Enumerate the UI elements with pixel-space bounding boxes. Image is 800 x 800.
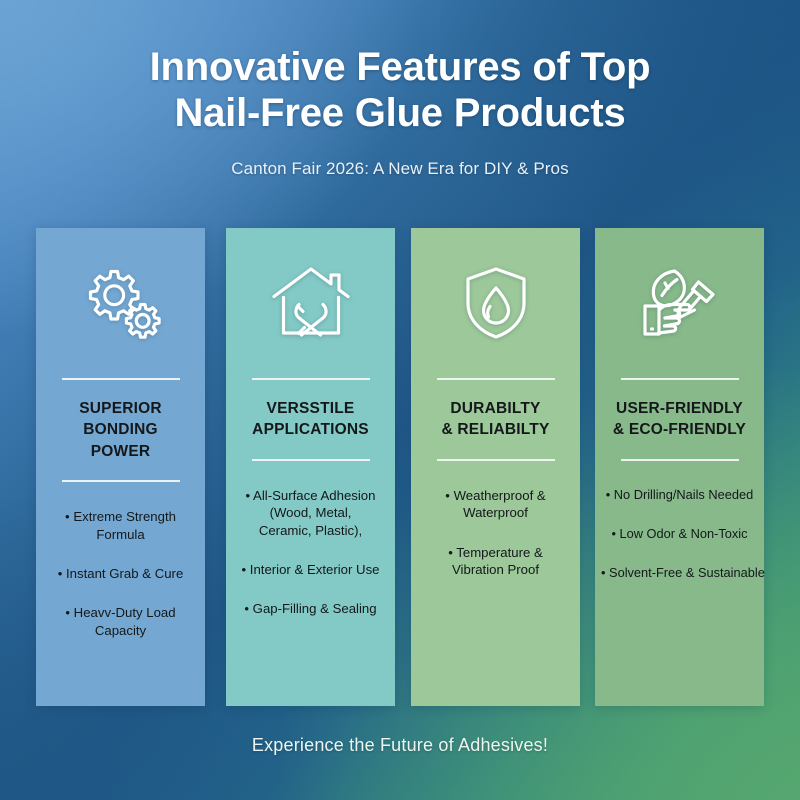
list-item: • Low Odor & Non-Toxic <box>601 526 758 543</box>
list-item: • Extreme Strength Formula <box>42 508 199 543</box>
bullet-text-wrap: Waterproof <box>417 504 574 521</box>
card-title-line-1: USER-FRIENDLY <box>603 398 756 419</box>
card-divider-top <box>437 378 555 380</box>
card-bullet-list: • All-Surface Adhesion (Wood, Metal, Cer… <box>226 461 395 618</box>
bullet-text: • No Drilling/Nails Needed <box>606 487 753 502</box>
feature-card-superior-bonding-power[interactable]: SUPERIOR BONDING POWER • Extreme Strengt… <box>36 228 205 706</box>
gears-icon <box>36 228 205 378</box>
bullet-text: • All-Surface Adhesion <box>246 488 376 503</box>
bullet-text: • Weatherproof & <box>445 488 545 503</box>
bullet-text: • Gap-Filling & Sealing <box>244 601 376 616</box>
bullet-text: • Low Odor & Non-Toxic <box>611 526 747 541</box>
feature-card-user-friendly-eco-friendly[interactable]: USER-FRIENDLY & ECO-FRIENDLY • No Drilli… <box>595 228 764 706</box>
bullet-text: • Heavv-Duty Load <box>65 605 175 620</box>
card-divider-bottom <box>437 459 555 461</box>
list-item: • All-Surface Adhesion (Wood, Metal, Cer… <box>232 487 389 539</box>
bullet-text-wrap: Capacity <box>42 622 199 639</box>
card-title-line-2: APPLICATIONS <box>234 419 387 440</box>
house-tools-icon <box>226 228 395 378</box>
footer-tagline: Experience the Future of Adhesives! <box>0 735 800 756</box>
list-item: • Gap-Filling & Sealing <box>232 600 389 617</box>
feature-card-list: SUPERIOR BONDING POWER • Extreme Strengt… <box>36 228 778 706</box>
bullet-text: • Solvent-Free & Sustainable <box>601 565 765 580</box>
list-item: • Instant Grab & Cure <box>42 565 199 582</box>
list-item: • Weatherproof & Waterproof <box>417 487 574 522</box>
bullet-text-wrap: Vibration Proof <box>417 561 574 578</box>
card-bullet-list: • Weatherproof & Waterproof • Temperatur… <box>411 461 580 579</box>
page-title-line-1: Innovative Features of Top <box>0 44 800 90</box>
card-bullet-list: • No Drilling/Nails Needed • Low Odor & … <box>595 461 764 582</box>
page-title-line-2: Nail-Free Glue Products <box>0 90 800 136</box>
feature-card-durability-reliability[interactable]: DURABILTY & RELIABILTY • Weatherproof & … <box>411 228 580 706</box>
card-title-line-1: DURABILTY <box>419 398 572 419</box>
card-title-line-3: POWER <box>44 441 197 462</box>
card-title-line-2: & ECO-FRIENDLY <box>603 419 756 440</box>
card-divider-top <box>252 378 370 380</box>
card-divider-bottom <box>62 480 180 482</box>
shield-droplet-icon <box>411 228 580 378</box>
infographic-canvas: Innovative Features of Top Nail-Free Glu… <box>0 0 800 800</box>
card-title: VERSSTILE APPLICATIONS <box>226 398 395 441</box>
card-divider-top <box>62 378 180 380</box>
card-divider-bottom <box>621 459 739 461</box>
bullet-text: • Instant Grab & Cure <box>58 566 184 581</box>
card-title-line-2: BONDING <box>44 419 197 440</box>
card-title-line-2: & RELIABILTY <box>419 419 572 440</box>
card-title-line-1: VERSSTILE <box>234 398 387 419</box>
bullet-text: • Extreme Strength <box>65 509 176 524</box>
card-title: USER-FRIENDLY & ECO-FRIENDLY <box>595 398 764 441</box>
card-title: DURABILTY & RELIABILTY <box>411 398 580 441</box>
bullet-text: • Temperature & <box>448 545 543 560</box>
bullet-text-wrap-2: Ceramic, Plastic), <box>232 522 389 539</box>
card-title: SUPERIOR BONDING POWER <box>36 398 205 462</box>
feature-card-versatile-applications[interactable]: VERSSTILE APPLICATIONS • All-Surface Adh… <box>226 228 395 706</box>
page-subtitle: Canton Fair 2026: A New Era for DIY & Pr… <box>0 137 800 179</box>
card-divider-top <box>621 378 739 380</box>
list-item: • Temperature & Vibration Proof <box>417 544 574 579</box>
header: Innovative Features of Top Nail-Free Glu… <box>0 0 800 179</box>
list-item: • Solvent-Free & Sustainable <box>601 565 758 582</box>
list-item: • No Drilling/Nails Needed <box>601 487 758 504</box>
card-title-line-1: SUPERIOR <box>44 398 197 419</box>
page-title: Innovative Features of Top Nail-Free Glu… <box>0 0 800 137</box>
list-item: • Interior & Exterior Use <box>232 561 389 578</box>
card-divider-bottom <box>252 459 370 461</box>
bullet-text-wrap: (Wood, Metal, <box>232 504 389 521</box>
hand-leaf-applicator-icon <box>595 228 764 378</box>
card-bullet-list: • Extreme Strength Formula • Instant Gra… <box>36 482 205 639</box>
list-item: • Heavv-Duty Load Capacity <box>42 604 199 639</box>
bullet-text-wrap: Formula <box>42 526 199 543</box>
bullet-text: • Interior & Exterior Use <box>242 562 380 577</box>
